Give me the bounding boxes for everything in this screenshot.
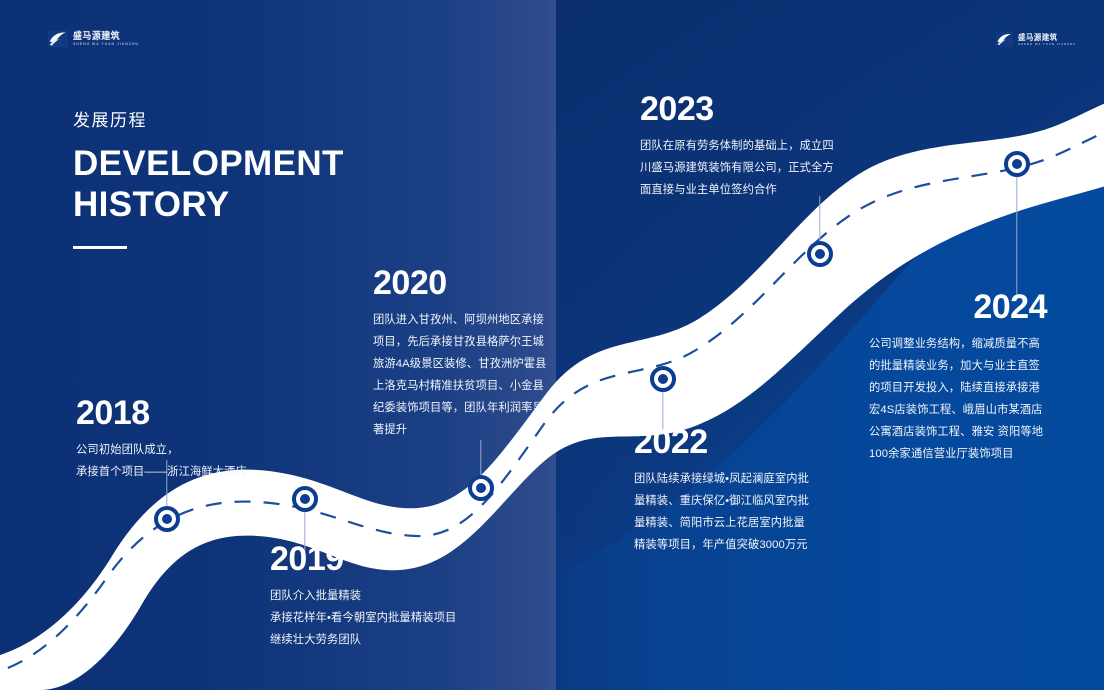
page-title: 发展历程 DEVELOPMENT HISTORY: [73, 106, 344, 249]
milestone-2024: 2024 公司调整业务结构，缩减质量不高的批量精装业务，加大与业主直签的项目开发…: [869, 290, 1047, 465]
logo-left-name-en: SHENG MA YUAN JIANZHU: [73, 43, 139, 47]
section-title-en: DEVELOPMENT HISTORY: [73, 143, 344, 226]
milestone-2022: 2022 团队陆续承接绿城•凤起澜庭室内批量精装、重庆保亿•御江临风室内批量精装…: [634, 425, 809, 556]
logo-right-name-en: SHENG MA YUAN JIANZHU: [1018, 43, 1076, 46]
milestone-2024-body: 公司调整业务结构，缩减质量不高的批量精装业务，加大与业主直签的项目开发投入，陆续…: [869, 333, 1047, 465]
milestone-2018: 2018 公司初始团队成立， 承接首个项目——浙江海鲜大酒店: [76, 396, 306, 483]
marker-dot-icon: [300, 494, 310, 504]
milestone-2022-body: 团队陆续承接绿城•凤起澜庭室内批量精装、重庆保亿•御江临风室内批量精装、简阳市云…: [634, 468, 809, 556]
marker-dot-icon: [1012, 159, 1022, 169]
marker-dot-icon: [476, 483, 486, 493]
stem-2023: [819, 196, 820, 242]
eagle-logo-icon: [996, 31, 1013, 48]
stem-2020: [480, 440, 481, 476]
milestone-2018-year: 2018: [76, 396, 306, 430]
milestone-2022-year: 2022: [634, 425, 809, 459]
milestone-2020-year: 2020: [373, 266, 548, 300]
stem-2024: [1016, 177, 1017, 295]
milestone-2023-year: 2023: [640, 92, 845, 126]
milestone-2019-body: 团队介入批量精装 承接花样年•看今朝室内批量精装项目 继续壮大劳务团队: [270, 585, 500, 651]
logo-right-name-cn: 盛马源建筑: [1018, 33, 1076, 41]
logo-left-name-cn: 盛马源建筑: [73, 31, 139, 40]
marker-2018[interactable]: [154, 506, 180, 532]
milestone-2020: 2020 团队进入甘孜州、阿坝州地区承接项目，先后承接甘孜县格萨尔王城旅游4A级…: [373, 266, 548, 441]
logo-right: 盛马源建筑 SHENG MA YUAN JIANZHU: [996, 31, 1076, 48]
milestone-2023: 2023 团队在原有劳务体制的基础上，成立四川盛马源建筑装饰有限公司，正式全方面…: [640, 92, 845, 201]
eagle-logo-icon: [48, 29, 68, 49]
marker-dot-icon: [815, 249, 825, 259]
milestone-2023-body: 团队在原有劳务体制的基础上，成立四川盛马源建筑装饰有限公司，正式全方面直接与业主…: [640, 135, 845, 201]
milestone-2024-year: 2024: [869, 290, 1047, 324]
title-underline: [73, 246, 127, 249]
logo-left: 盛马源建筑 SHENG MA YUAN JIANZHU: [48, 29, 139, 49]
slide-canvas: 盛马源建筑 SHENG MA YUAN JIANZHU 盛马源建筑 SHENG …: [0, 0, 1104, 690]
marker-2023[interactable]: [807, 241, 833, 267]
milestone-2020-body: 团队进入甘孜州、阿坝州地区承接项目，先后承接甘孜县格萨尔王城旅游4A级景区装修、…: [373, 309, 548, 441]
milestone-2019: 2019 团队介入批量精装 承接花样年•看今朝室内批量精装项目 继续壮大劳务团队: [270, 542, 500, 651]
milestone-2019-year: 2019: [270, 542, 500, 576]
marker-2020[interactable]: [468, 475, 494, 501]
marker-dot-icon: [658, 374, 668, 384]
marker-dot-icon: [162, 514, 172, 524]
marker-2019[interactable]: [292, 486, 318, 512]
section-label-cn: 发展历程: [73, 106, 344, 131]
milestone-2018-body: 公司初始团队成立， 承接首个项目——浙江海鲜大酒店: [76, 439, 306, 483]
marker-2022[interactable]: [650, 366, 676, 392]
marker-2024[interactable]: [1004, 151, 1030, 177]
